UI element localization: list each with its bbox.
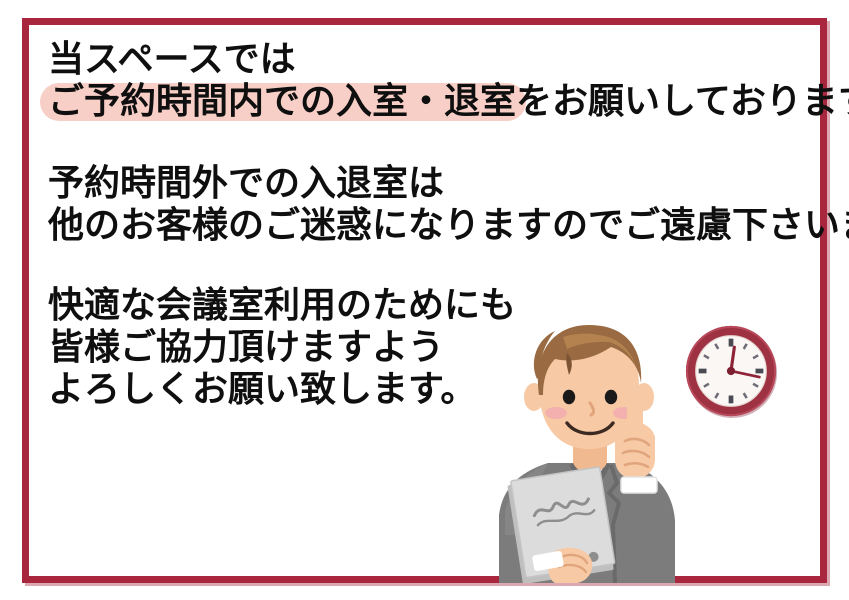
highlighted-phrase: ご予約時間内での入室・退室 bbox=[48, 80, 516, 122]
right-cuff bbox=[621, 477, 657, 493]
paragraph-2-line-1: 予約時間外での入退室は bbox=[48, 162, 808, 204]
notice-text-block: 当スペースでは ご予約時間内での入室・退室をお願いしております。 予約時間外での… bbox=[48, 38, 808, 410]
paragraph-2-line-2: 他のお客様のご迷惑になりますのでご遠慮下さいませ。 bbox=[48, 204, 808, 246]
poster-canvas: 当スペースでは ご予約時間内での入室・退室をお願いしております。 予約時間外での… bbox=[0, 0, 849, 600]
paragraph-1-line-1: 当スペースでは bbox=[48, 38, 808, 80]
paragraph-spacer-1 bbox=[48, 122, 808, 162]
paragraph-2: 予約時間外での入退室は 他のお客様のご迷惑になりますのでご遠慮下さいませ。 bbox=[48, 162, 808, 246]
highlighted-phrase-text: ご予約時間内での入室・退室 bbox=[48, 80, 516, 121]
paragraph-3: 快適な会議室利用のためにも 皆様ご協力頂けますよう よろしくお願い致します。 bbox=[48, 284, 808, 410]
paragraph-spacer-2 bbox=[48, 246, 808, 284]
paragraph-3-line-2: 皆様ご協力頂けますよう bbox=[48, 326, 808, 368]
paragraph-1-line-2-rest: をお願いしております。 bbox=[516, 80, 849, 121]
paragraph-1-line-2: ご予約時間内での入室・退室をお願いしております。 bbox=[48, 80, 808, 122]
paragraph-3-line-3: よろしくお願い致します。 bbox=[48, 368, 808, 410]
paragraph-3-line-1: 快適な会議室利用のためにも bbox=[48, 284, 808, 326]
paragraph-1: 当スペースでは ご予約時間内での入室・退室をお願いしております。 bbox=[48, 38, 808, 122]
